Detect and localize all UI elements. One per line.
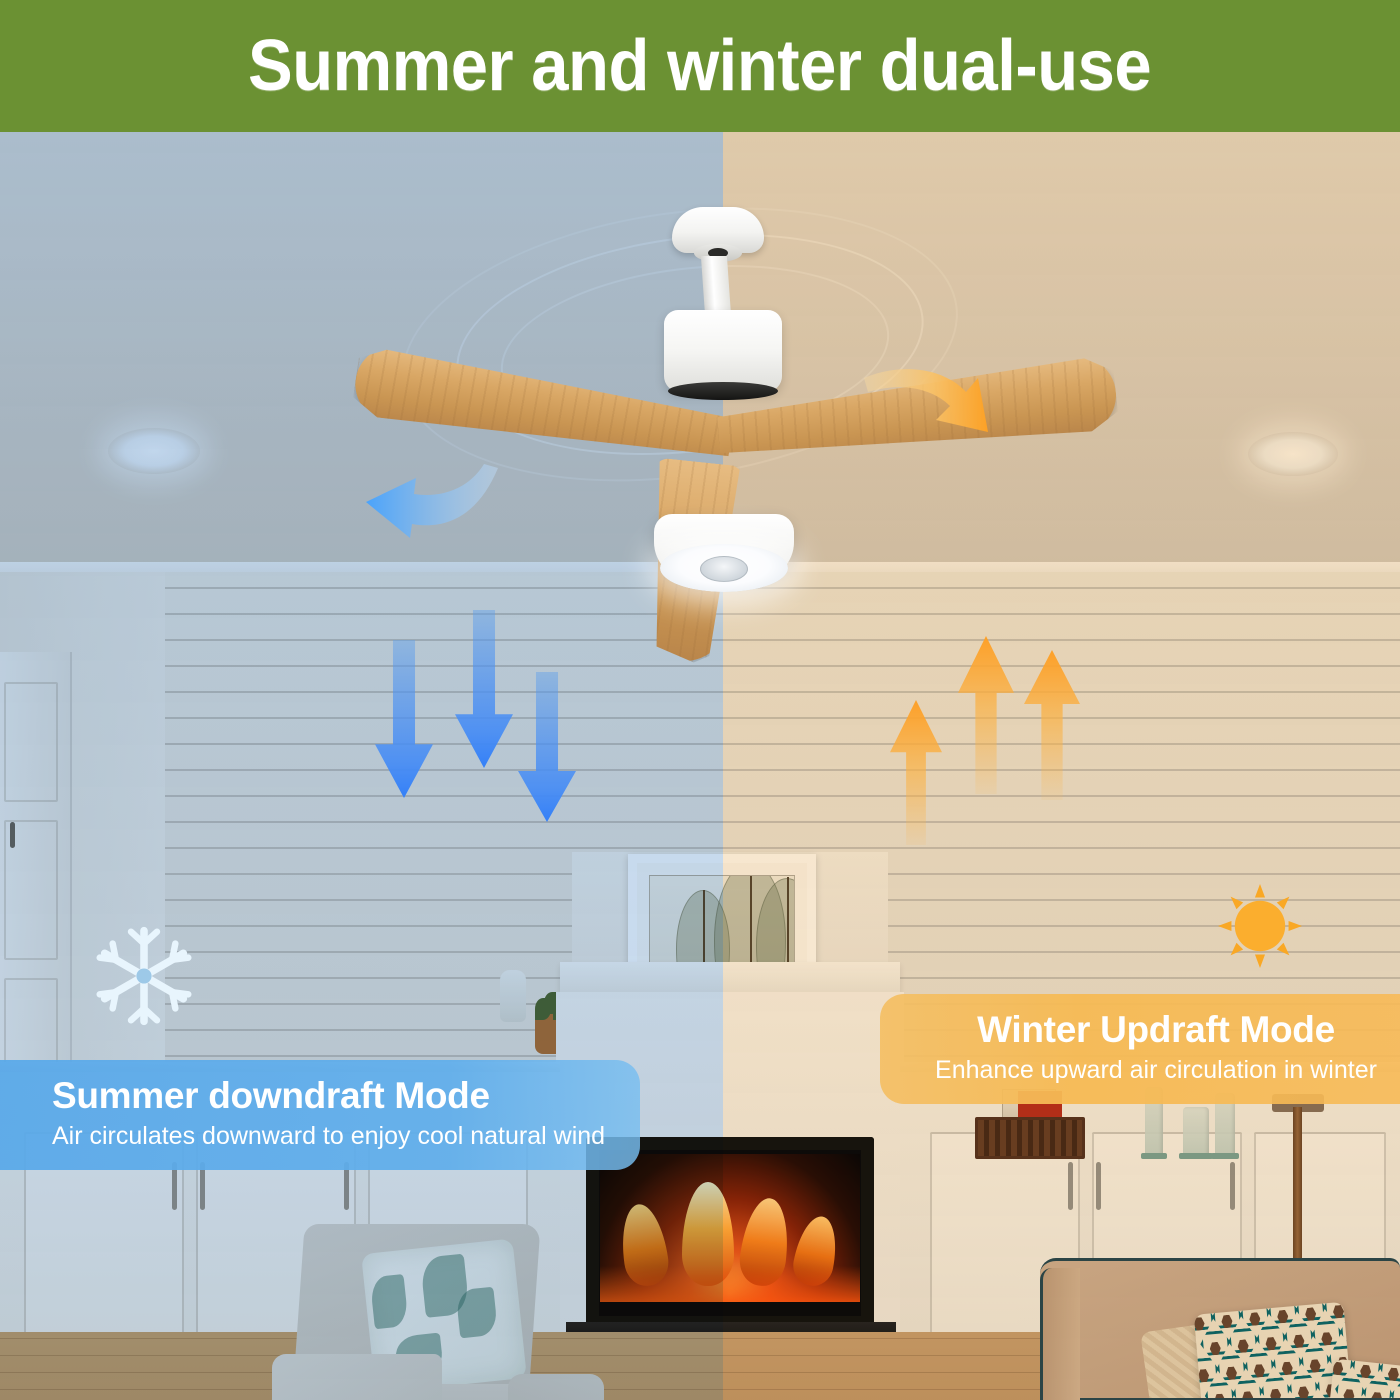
glass-candlestick xyxy=(1183,1107,1209,1159)
shiplap-line xyxy=(160,847,1400,849)
shiplap-line xyxy=(160,769,1400,771)
candlestick-base xyxy=(1141,1153,1167,1159)
artwork-leaf-stem xyxy=(750,875,752,976)
armchair-arm xyxy=(272,1354,442,1400)
winter-mode-subtitle: Enhance upward air circulation in winter xyxy=(935,1054,1377,1088)
summer-mode-title: Summer downdraft Mode xyxy=(52,1076,640,1117)
candlestick-base xyxy=(1179,1153,1213,1159)
fan-motor-housing xyxy=(664,310,782,392)
sun-icon xyxy=(1218,884,1302,968)
shiplap-line xyxy=(160,691,1400,693)
shiplap-line xyxy=(160,821,1400,823)
shiplap-line xyxy=(160,665,1400,667)
candlestick-base xyxy=(1211,1153,1239,1159)
winter-mode-title: Winter Updraft Mode xyxy=(977,1010,1335,1051)
pillow-leaf xyxy=(370,1274,409,1329)
pillow-leaf xyxy=(455,1287,498,1339)
fan-downrod xyxy=(701,256,731,316)
sofa-arm xyxy=(1040,1268,1080,1400)
cabinet-handle xyxy=(1096,1162,1101,1210)
door-knob xyxy=(10,822,15,848)
armchair-arm xyxy=(508,1374,604,1400)
shiplap-line xyxy=(160,613,1400,615)
winter-mode-card[interactable]: Winter Updraft Mode Enhance upward air c… xyxy=(880,994,1400,1104)
fireplace-mantel xyxy=(560,962,900,996)
armchair xyxy=(272,1224,602,1400)
embers xyxy=(600,1266,860,1302)
product-marketing-image: Summer and winter dual-use xyxy=(0,0,1400,1400)
snowflake-icon xyxy=(90,922,198,1030)
room-scene: Summer downdraft Mode Air circulates dow… xyxy=(0,132,1400,1400)
summer-mode-subtitle: Air circulates downward to enjoy cool na… xyxy=(52,1120,640,1154)
page-title: Summer and winter dual-use xyxy=(248,30,1151,102)
fire xyxy=(600,1154,860,1302)
ceiling-fan xyxy=(0,132,1400,612)
vase xyxy=(500,970,526,1022)
cabinet-handle xyxy=(1230,1162,1235,1210)
door-panel xyxy=(4,682,58,802)
fan-motor-band xyxy=(668,382,778,400)
fan-light-center-cap xyxy=(700,556,748,582)
shiplap-line xyxy=(160,639,1400,641)
wooden-crate xyxy=(975,1117,1085,1159)
shiplap-line xyxy=(160,795,1400,797)
summer-mode-card[interactable]: Summer downdraft Mode Air circulates dow… xyxy=(0,1060,640,1170)
header-banner: Summer and winter dual-use xyxy=(0,0,1400,132)
shiplap-line xyxy=(160,743,1400,745)
cabinet-handle xyxy=(1068,1162,1073,1210)
shiplap-line xyxy=(160,717,1400,719)
sofa xyxy=(1040,1230,1400,1400)
